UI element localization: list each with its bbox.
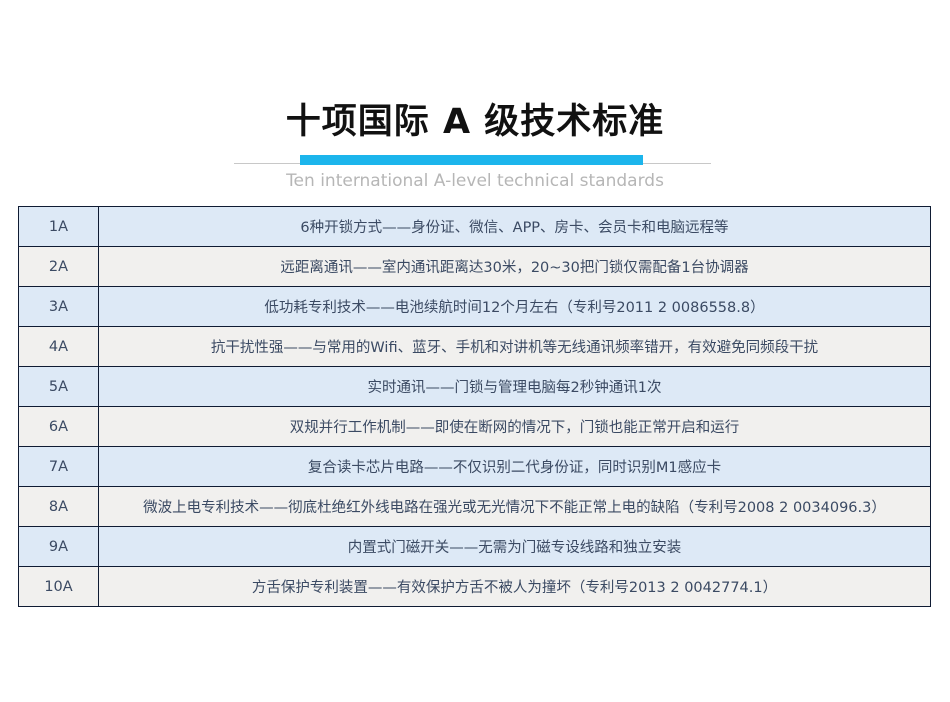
table-row: 1A6种开锁方式——身份证、微信、APP、房卡、会员卡和电脑远程等 — [19, 207, 931, 247]
page-header: 十项国际 A 级技术标准 Ten international A-level t… — [0, 0, 950, 200]
standard-code-cell: 7A — [19, 447, 99, 487]
standard-code-cell: 5A — [19, 367, 99, 407]
standard-code-cell: 8A — [19, 487, 99, 527]
title-accent-bar — [300, 155, 643, 165]
standard-code-cell: 2A — [19, 247, 99, 287]
standard-code-cell: 3A — [19, 287, 99, 327]
table-row: 5A实时通讯——门锁与管理电脑每2秒钟通讯1次 — [19, 367, 931, 407]
standard-description-cell: 实时通讯——门锁与管理电脑每2秒钟通讯1次 — [99, 367, 931, 407]
table-row: 2A远距离通讯——室内通讯距离达30米，20~30把门锁仅需配备1台协调器 — [19, 247, 931, 287]
table-row: 8A微波上电专利技术——彻底杜绝红外线电路在强光或无光情况下不能正常上电的缺陷（… — [19, 487, 931, 527]
standard-description-cell: 低功耗专利技术——电池续航时间12个月左右（专利号2011 2 0086558.… — [99, 287, 931, 327]
standard-description-cell: 内置式门磁开关——无需为门磁专设线路和独立安装 — [99, 527, 931, 567]
standard-code-cell: 1A — [19, 207, 99, 247]
table-row: 4A抗干扰性强——与常用的Wifi、蓝牙、手机和对讲机等无线通讯频率错开，有效避… — [19, 327, 931, 367]
page-subtitle: Ten international A-level technical stan… — [0, 169, 950, 193]
table-row: 6A双规并行工作机制——即使在断网的情况下，门锁也能正常开启和运行 — [19, 407, 931, 447]
standard-description-cell: 复合读卡芯片电路——不仅识别二代身份证，同时识别M1感应卡 — [99, 447, 931, 487]
table-row: 7A复合读卡芯片电路——不仅识别二代身份证，同时识别M1感应卡 — [19, 447, 931, 487]
table-row: 3A低功耗专利技术——电池续航时间12个月左右（专利号2011 2 008655… — [19, 287, 931, 327]
standard-description-cell: 远距离通讯——室内通讯距离达30米，20~30把门锁仅需配备1台协调器 — [99, 247, 931, 287]
standard-code-cell: 9A — [19, 527, 99, 567]
table-row: 9A内置式门磁开关——无需为门磁专设线路和独立安装 — [19, 527, 931, 567]
standard-description-cell: 微波上电专利技术——彻底杜绝红外线电路在强光或无光情况下不能正常上电的缺陷（专利… — [99, 487, 931, 527]
standards-table: 1A6种开锁方式——身份证、微信、APP、房卡、会员卡和电脑远程等2A远距离通讯… — [18, 206, 931, 607]
standard-code-cell: 6A — [19, 407, 99, 447]
standard-description-cell: 抗干扰性强——与常用的Wifi、蓝牙、手机和对讲机等无线通讯频率错开，有效避免同… — [99, 327, 931, 367]
standard-description-cell: 6种开锁方式——身份证、微信、APP、房卡、会员卡和电脑远程等 — [99, 207, 931, 247]
standard-description-cell: 方舌保护专利装置——有效保护方舌不被人为撞坏（专利号2013 2 0042774… — [99, 567, 931, 607]
standard-code-cell: 10A — [19, 567, 99, 607]
standard-code-cell: 4A — [19, 327, 99, 367]
table-row: 10A方舌保护专利装置——有效保护方舌不被人为撞坏（专利号2013 2 0042… — [19, 567, 931, 607]
standards-table-body: 1A6种开锁方式——身份证、微信、APP、房卡、会员卡和电脑远程等2A远距离通讯… — [19, 207, 931, 607]
page-title: 十项国际 A 级技术标准 — [0, 100, 950, 144]
standard-description-cell: 双规并行工作机制——即使在断网的情况下，门锁也能正常开启和运行 — [99, 407, 931, 447]
